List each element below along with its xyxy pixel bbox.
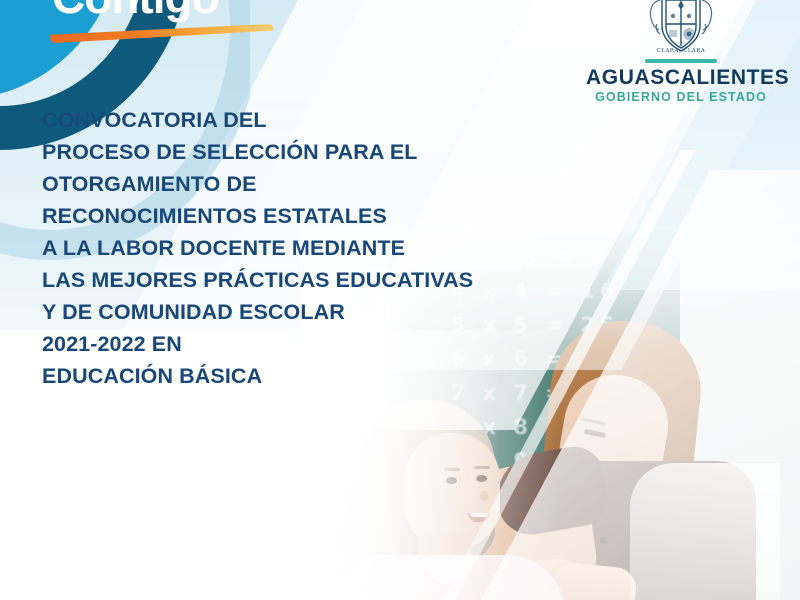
state-name: AGUASCALIENTES bbox=[586, 67, 776, 88]
aguascalientes-coat-of-arms-icon: CLARA, CLARA bbox=[642, 0, 720, 56]
shirt-button bbox=[600, 537, 607, 544]
headline-line: Y DE COMUNIDAD ESCOLAR bbox=[42, 296, 572, 328]
contigo-wordmark: Contigo bbox=[52, 0, 282, 20]
orange-swoosh-icon bbox=[50, 24, 274, 44]
headline-line: RECONOCIMIENTOS ESTATALES bbox=[42, 200, 572, 232]
poster-canvas: 3 x 3 = 9 4 x 4 = 16 5 x 5 = 25 6 x 6 = … bbox=[0, 0, 800, 600]
headline-line: CONVOCATORIA DEL bbox=[42, 104, 572, 136]
headline-line: OTORGAMIENTO DE bbox=[42, 168, 572, 200]
headline-line: 2021-2022 EN bbox=[42, 328, 572, 360]
photo-highlight bbox=[630, 463, 780, 600]
headline-line: EDUCACIÓN BÁSICA bbox=[42, 360, 572, 392]
emblem-tagline: GOBIERNO DEL ESTADO bbox=[586, 91, 776, 104]
emblem-divider bbox=[645, 59, 717, 63]
coat-of-arms-motto: CLARA, CLARA bbox=[657, 48, 706, 54]
government-emblem: CLARA, CLARA AGUASCALIENTES GOBIERNO DEL… bbox=[586, 0, 776, 104]
contigo-logo: Contigo bbox=[52, 0, 282, 44]
headline-line: A LA LABOR DOCENTE MEDIANTE bbox=[42, 232, 572, 264]
headline-line: LAS MEJORES PRÁCTICAS EDUCATIVAS bbox=[42, 264, 572, 296]
headline-line: PROCESO DE SELECCIÓN PARA EL bbox=[42, 136, 572, 168]
headline: CONVOCATORIA DEL PROCESO DE SELECCIÓN PA… bbox=[42, 104, 572, 392]
